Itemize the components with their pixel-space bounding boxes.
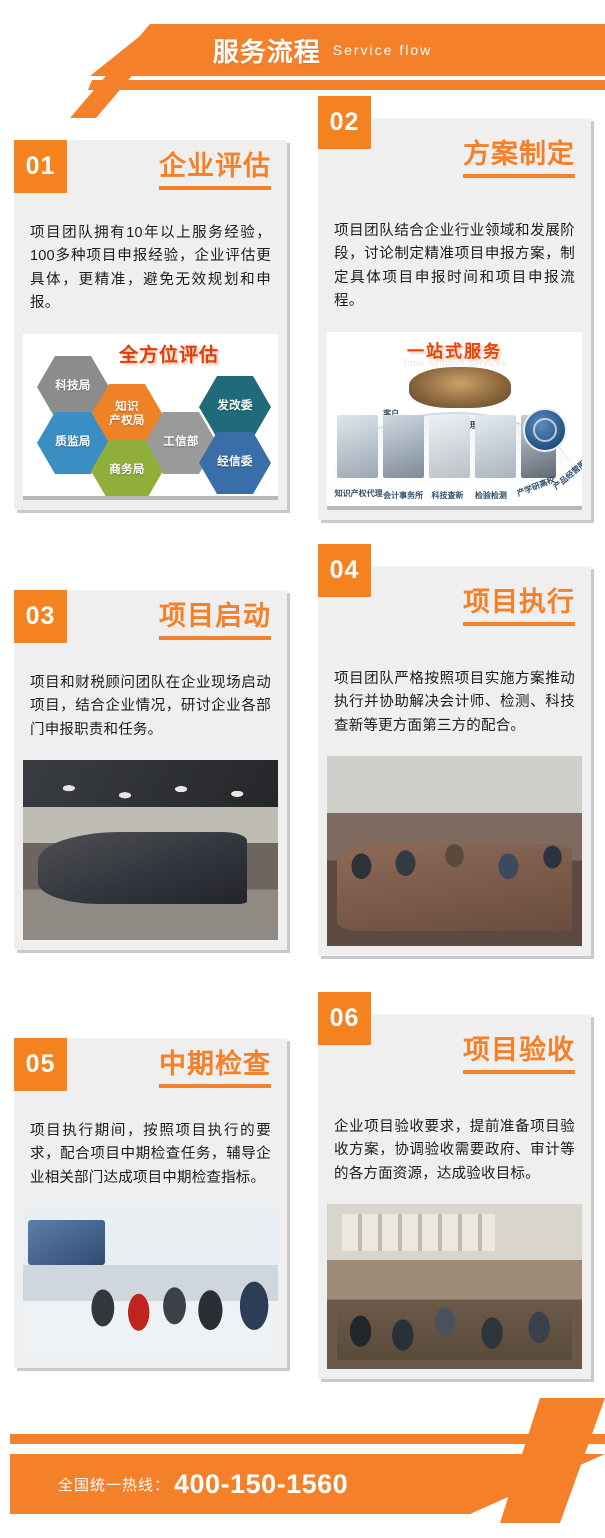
step-card-04[interactable]: 04 项目执行 项目团队严格按照项目实施方案推动执行并协助解决会计师、检测、科技… xyxy=(318,566,591,956)
step-badge-06: 06 xyxy=(318,992,371,1045)
step-title-group-01: 企业评估 xyxy=(159,152,271,190)
hotline-number[interactable]: 400-150-1560 xyxy=(174,1469,348,1500)
hexagon-assessment-diagram: 全方位评估 科技局 知识产权局 发改委 质监局 工信部 商务局 经信委 xyxy=(23,334,278,500)
service-node-label-accounting: 会计事务所 xyxy=(383,490,423,501)
meeting-room-scene xyxy=(23,760,278,940)
step-body-02: 项目团队结合企业行业领域和发展阶段，讨论制定精准项目申报方案，制定具体项目申报时… xyxy=(318,214,591,324)
step-body-01: 项目团队拥有10年以上服务经验，100多种项目申报经验，企业评估更具体，更精准，… xyxy=(14,216,287,326)
service-thumb-ip xyxy=(337,415,378,478)
showroom-scene xyxy=(23,1208,278,1358)
one-stop-service-diagram: 一站式服务 Total Solution Services 客户 项目经理 知识… xyxy=(327,332,582,510)
step-body-03: 项目和财税顾问团队在企业现场启动项目，结合企业情况，研讨企业各部门申报职责和任务… xyxy=(14,666,287,752)
step-body-04: 项目团队严格按照项目实施方案推动执行并协助解决会计师、检测、科技查新等更方面第三… xyxy=(318,662,591,748)
service-thumb-testing xyxy=(475,415,516,478)
step-title-01: 企业评估 xyxy=(159,152,271,181)
service-thumb-accounting xyxy=(383,415,424,478)
office-work-photo xyxy=(327,756,582,946)
hex-node-fagai-wei: 发改委 xyxy=(199,376,271,438)
step-title-group-06: 项目验收 xyxy=(463,1036,575,1074)
footer-rule-shape xyxy=(0,1434,605,1444)
step-body-05: 项目执行期间，按照项目执行的要求，配合项目中期检查任务，辅导企业相关部门达成项目… xyxy=(14,1114,287,1200)
service-thumb-search xyxy=(429,415,470,478)
step-title-04: 项目执行 xyxy=(463,588,575,617)
steps-row-2: 03 项目启动 项目和财税顾问团队在企业现场启动项目，结合企业情况，研讨企业各部… xyxy=(0,552,605,1000)
step-body-06: 企业项目验收要求，提前准备项目验收方案，协调验收需要政府、审计等的各方面资源，达… xyxy=(318,1110,591,1196)
service-node-label-ip: 知识产权代理 xyxy=(335,488,383,499)
step-badge-03: 03 xyxy=(14,590,67,643)
title-underline-06 xyxy=(463,1070,575,1074)
steps-grid: 01 企业评估 项目团队拥有10年以上服务经验，100多种项目申报经验，企业评估… xyxy=(0,104,605,1448)
step-card-06[interactable]: 06 项目验收 企业项目验收要求，提前准备项目验收方案，协调验收需要政府、审计等… xyxy=(318,1014,591,1379)
service-flow-infographic: 服务流程 Service flow 01 企业评估 项目团队拥有10年以上服务经… xyxy=(0,0,605,1538)
title-underline-03 xyxy=(159,636,271,640)
step-card-03[interactable]: 03 项目启动 项目和财税顾问团队在企业现场启动项目，结合企业情况，研讨企业各部… xyxy=(14,590,287,950)
service-node-label-testing: 检验检测 xyxy=(475,490,507,501)
step-badge-01: 01 xyxy=(14,140,67,193)
header-banner: 服务流程 Service flow xyxy=(0,0,605,118)
page-subtitle: Service flow xyxy=(333,42,432,58)
service-certification-badge-icon xyxy=(523,408,567,452)
service-node-label-search: 科技查新 xyxy=(432,490,464,501)
page-title: 服务流程 xyxy=(213,32,321,69)
conference-photo xyxy=(327,1204,582,1369)
conference-scene xyxy=(327,1204,582,1369)
step-title-group-02: 方案制定 xyxy=(463,140,575,178)
steps-row-1: 01 企业评估 项目团队拥有10年以上服务经验，100多种项目申报经验，企业评估… xyxy=(0,104,605,552)
showroom-visit-photo xyxy=(23,1208,278,1358)
hotline-label: 全国统一热线： xyxy=(58,1474,170,1495)
meeting-room-photo xyxy=(23,760,278,940)
step-title-02: 方案制定 xyxy=(463,140,575,169)
steps-row-3: 05 中期检查 项目执行期间，按照项目执行的要求，配合项目中期检查任务，辅导企业… xyxy=(0,1000,605,1448)
step-title-group-03: 项目启动 xyxy=(159,602,271,640)
title-underline-04 xyxy=(463,622,575,626)
title-underline-02 xyxy=(463,174,575,178)
step-card-05[interactable]: 05 中期检查 项目执行期间，按照项目执行的要求，配合项目中期检查任务，辅导企业… xyxy=(14,1038,287,1368)
hotline-group: 全国统一热线： 400-150-1560 xyxy=(58,1454,348,1514)
footer-banner: 全国统一热线： 400-150-1560 xyxy=(0,1398,605,1538)
service-diagram-hero-photo xyxy=(409,367,511,409)
step-title-group-04: 项目执行 xyxy=(463,588,575,626)
step-card-01[interactable]: 01 企业评估 项目团队拥有10年以上服务经验，100多种项目申报经验，企业评估… xyxy=(14,140,287,510)
step-title-group-05: 中期检查 xyxy=(159,1050,271,1088)
step-card-02[interactable]: 02 方案制定 项目团队结合企业行业领域和发展阶段，讨论制定精准项目申报方案，制… xyxy=(318,118,591,520)
step-title-05: 中期检查 xyxy=(159,1050,271,1079)
step-title-03: 项目启动 xyxy=(159,602,271,631)
office-work-scene xyxy=(327,756,582,946)
title-underline-01 xyxy=(159,186,271,190)
step-badge-02: 02 xyxy=(318,96,371,149)
title-underline-05 xyxy=(159,1084,271,1088)
hexagon-diagram-title: 全方位评估 xyxy=(119,340,219,367)
step-title-06: 项目验收 xyxy=(463,1036,575,1065)
header-underline-rule xyxy=(0,80,605,90)
header-title-group: 服务流程 Service flow xyxy=(0,24,605,76)
step-badge-04: 04 xyxy=(318,544,371,597)
step-badge-05: 05 xyxy=(14,1038,67,1091)
